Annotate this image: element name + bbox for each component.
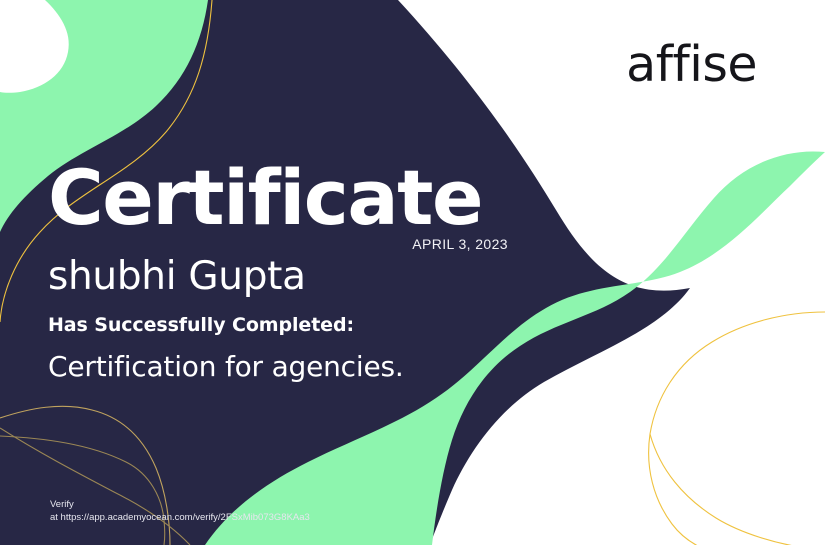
verification-block: Verify at https://app.academyocean.com/v… bbox=[50, 499, 310, 524]
certificate-title: Certificate bbox=[48, 160, 482, 236]
verify-url[interactable]: at https://app.academyocean.com/verify/2… bbox=[50, 512, 310, 525]
certificate-canvas: affise Certificate APRIL 3, 2023 shubhi … bbox=[0, 0, 825, 545]
recipient-name: shubhi Gupta bbox=[48, 256, 306, 298]
course-name: Certification for agencies. bbox=[48, 350, 404, 383]
issue-date: APRIL 3, 2023 bbox=[48, 236, 508, 252]
verify-label: Verify bbox=[50, 499, 310, 512]
affise-logo: affise bbox=[626, 40, 757, 89]
certificate-content: affise Certificate APRIL 3, 2023 shubhi … bbox=[0, 0, 825, 545]
completion-label: Has Successfully Completed: bbox=[48, 314, 354, 336]
